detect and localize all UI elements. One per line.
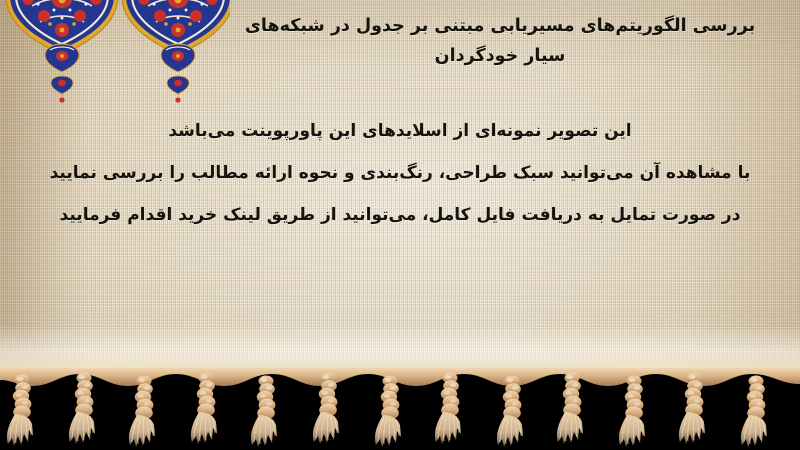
fringe-selvage [0,368,800,386]
body-line-3: در صورت تمایل به دریافت فایل کامل، می‌تو… [0,194,800,236]
slide-title-line-1: بررسی الگوریتم‌های مسیریابی مبتنی بر جدو… [245,16,755,36]
slide-body: این تصویر نمونه‌ای از اسلایدهای این پاور… [0,110,800,236]
slide-title-line-2: سیار خودگردان [435,46,566,66]
bottom-black-band [0,368,800,450]
slide-canvas: بررسی الگوریتم‌های مسیریابی مبتنی بر جدو… [0,0,800,450]
carpet-fringe [0,368,800,450]
body-line-2: با مشاهده آن می‌توانید سبک طراحی، رنگ‌بن… [0,152,800,194]
body-line-1: این تصویر نمونه‌ای از اسلایدهای این پاور… [0,110,800,152]
slide-title: بررسی الگوریتم‌های مسیریابی مبتنی بر جدو… [200,11,800,71]
